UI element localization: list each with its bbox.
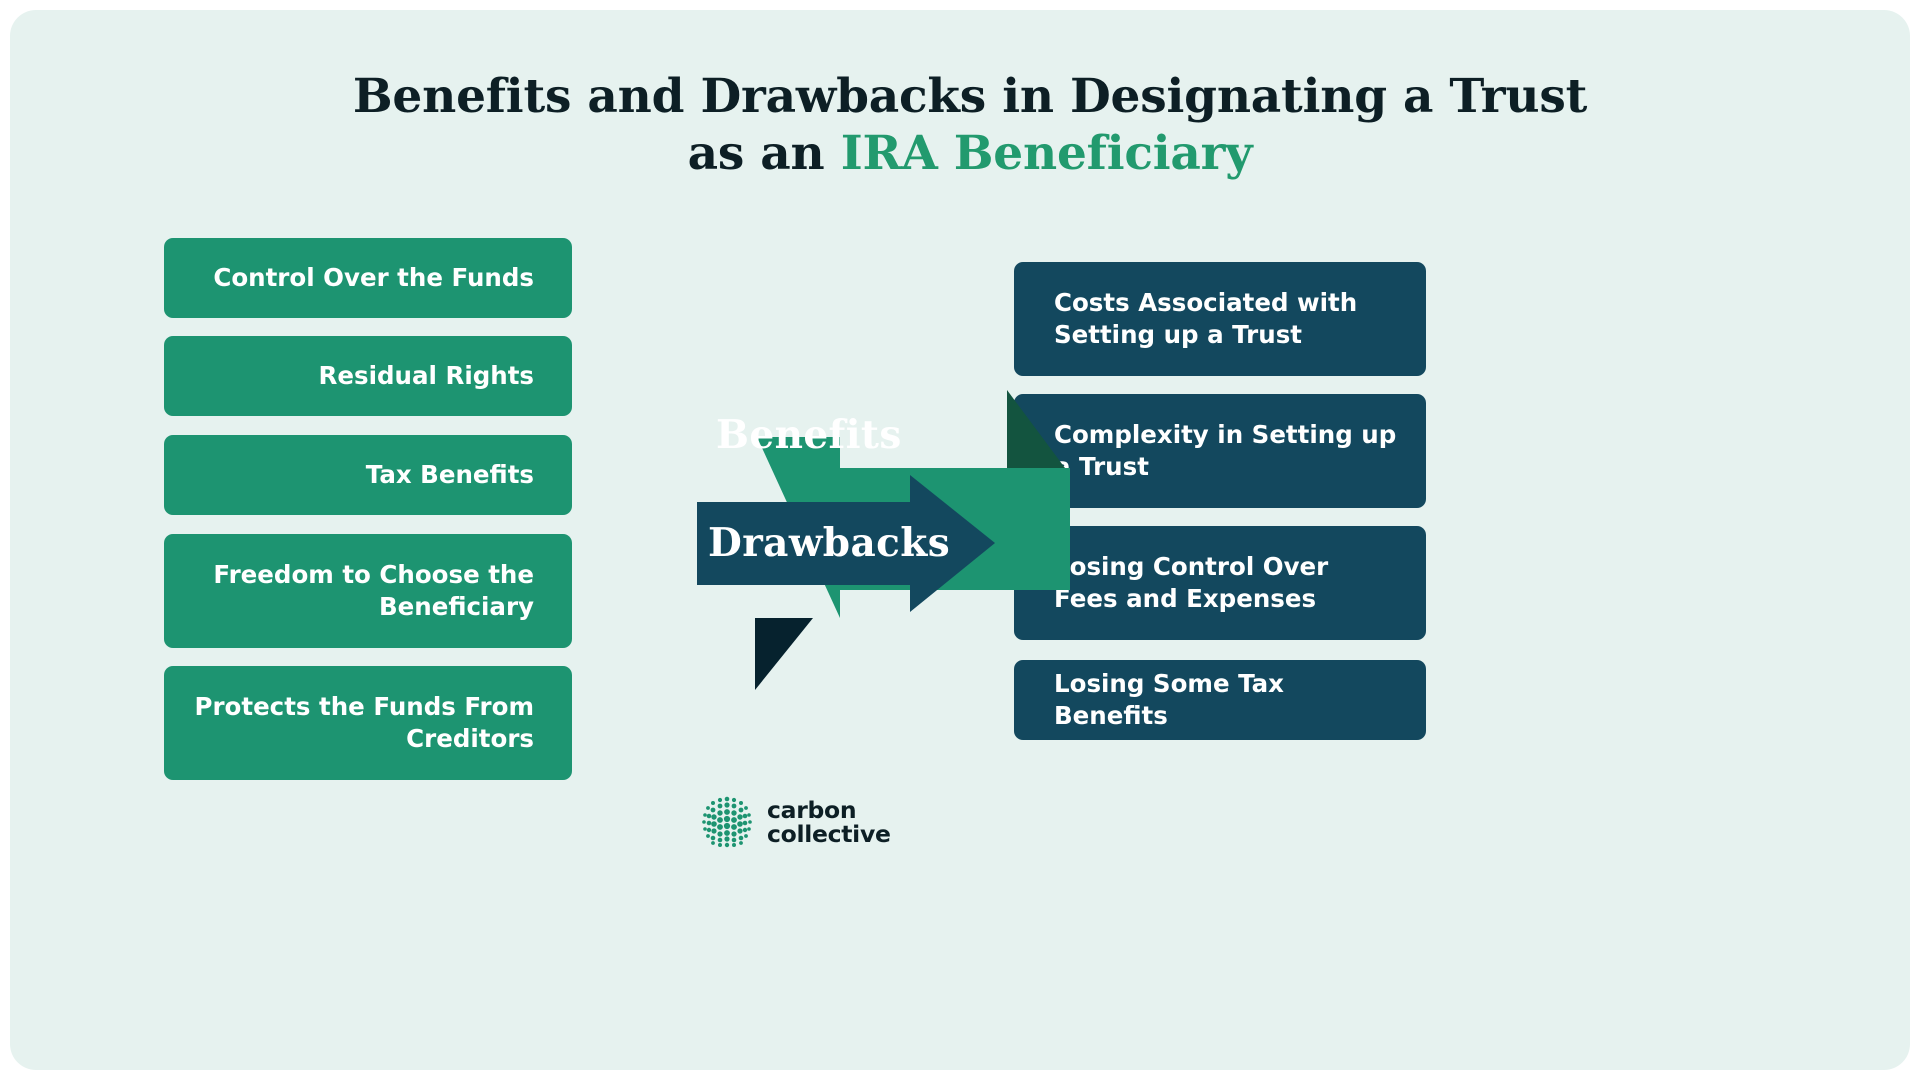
drawback-item-3-label: Losing Control Over Fees and Expenses (1054, 551, 1400, 616)
title-line-2: as an IRA Beneficiary (10, 125, 1910, 182)
benefit-item-1-label: Control Over the Funds (213, 262, 534, 294)
benefits-arrow-label: Benefits (716, 412, 902, 458)
drawback-item-1[interactable]: Costs Associated with Setting up a Trust (1014, 262, 1426, 376)
carbon-collective-dots-icon (698, 793, 756, 851)
drawback-item-3[interactable]: Losing Control Over Fees and Expenses (1014, 526, 1426, 640)
page-title: Benefits and Drawbacks in Designating a … (10, 68, 1910, 183)
title-accent: IRA Beneficiary (841, 126, 1253, 181)
brand-logo-line-1: carbon (767, 798, 891, 822)
benefits-fold-triangle-icon (1007, 390, 1065, 468)
benefit-item-1[interactable]: Control Over the Funds (164, 238, 572, 318)
infographic-canvas: Benefits and Drawbacks in Designating a … (0, 0, 1920, 1080)
title-line-2-prefix: as an (688, 126, 841, 181)
brand-logo-line-2: collective (767, 822, 891, 846)
drawback-item-2[interactable]: Complexity in Setting up a Trust (1014, 394, 1426, 508)
drawback-item-4[interactable]: Losing Some Tax Benefits (1014, 660, 1426, 740)
arrow-svg (610, 290, 1070, 690)
drawback-item-2-label: Complexity in Setting up a Trust (1054, 419, 1400, 484)
infographic-card: Benefits and Drawbacks in Designating a … (10, 10, 1910, 1070)
benefit-item-5-label: Protects the Funds From Creditors (190, 691, 534, 756)
benefit-item-2[interactable]: Residual Rights (164, 336, 572, 416)
benefit-item-4[interactable]: Freedom to Choose the Beneficiary (164, 534, 572, 648)
brand-logo: carbon collective (698, 791, 898, 853)
benefit-item-3-label: Tax Benefits (366, 459, 534, 491)
benefit-item-4-label: Freedom to Choose the Beneficiary (190, 559, 534, 624)
benefit-item-5[interactable]: Protects the Funds From Creditors (164, 666, 572, 780)
title-line-1: Benefits and Drawbacks in Designating a … (10, 68, 1910, 125)
drawback-item-4-label: Losing Some Tax Benefits (1054, 668, 1400, 733)
drawbacks-fold-triangle-icon (755, 618, 813, 690)
brand-logo-text: carbon collective (767, 798, 891, 847)
arrow-diagram: Benefits Drawbacks (610, 290, 1070, 690)
benefit-item-3[interactable]: Tax Benefits (164, 435, 572, 515)
drawback-item-1-label: Costs Associated with Setting up a Trust (1054, 287, 1400, 352)
drawbacks-arrow-label: Drawbacks (708, 520, 950, 566)
benefit-item-2-label: Residual Rights (319, 360, 534, 392)
